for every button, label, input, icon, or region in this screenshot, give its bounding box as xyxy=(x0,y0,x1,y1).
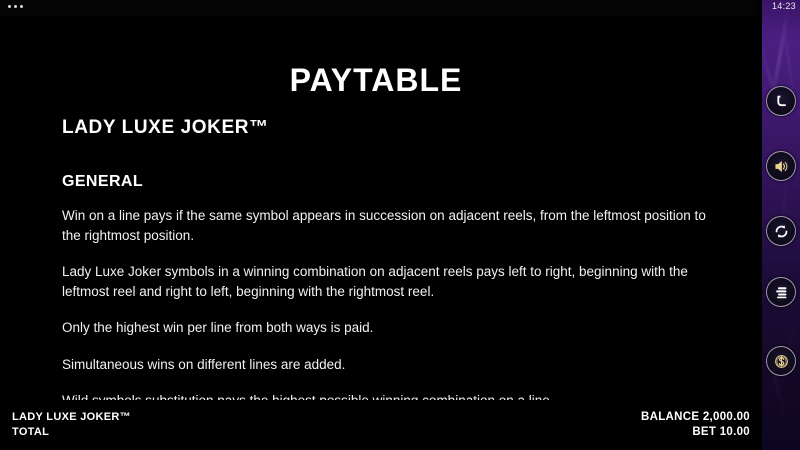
autoplay-icon xyxy=(773,223,790,240)
coins-icon xyxy=(773,353,790,370)
paylines-button[interactable] xyxy=(766,277,796,307)
sound-button[interactable] xyxy=(766,151,796,181)
game-screen: 14:23 PAYTABLE LADY LUXE JOKER™ GENERAL … xyxy=(0,0,800,450)
autoplay-button[interactable] xyxy=(766,216,796,246)
rules-paragraph: Lady Luxe Joker symbols in a winning com… xyxy=(62,262,727,301)
side-control-panel xyxy=(762,0,800,450)
status-bar xyxy=(0,0,762,16)
clock-label: 14:23 xyxy=(772,1,796,11)
rules-text-block: Win on a line pays if the same symbol ap… xyxy=(62,206,727,400)
bet-button[interactable] xyxy=(766,346,796,376)
rules-paragraph: Only the highest win per line from both … xyxy=(62,318,727,338)
bet-value: BET 10.00 xyxy=(641,425,750,440)
paytable-content: PAYTABLE LADY LUXE JOKER™ GENERAL Win on… xyxy=(0,0,752,400)
rules-paragraph: Simultaneous wins on different lines are… xyxy=(62,355,727,375)
section-heading-general: GENERAL xyxy=(62,173,143,191)
back-button[interactable] xyxy=(766,86,796,116)
footer-total-label: TOTAL xyxy=(12,425,131,440)
rules-paragraph: Wild symbols substitution pays the highe… xyxy=(62,391,727,400)
bottom-bar: LADY LUXE JOKER™ TOTAL BALANCE 2,000.00 … xyxy=(0,404,762,450)
bottom-bar-left: LADY LUXE JOKER™ TOTAL xyxy=(12,410,131,440)
paylines-icon xyxy=(773,284,790,301)
decorative-wisp xyxy=(762,331,787,425)
bottom-bar-right: BALANCE 2,000.00 BET 10.00 xyxy=(641,410,750,440)
rules-paragraph: Win on a line pays if the same symbol ap… xyxy=(62,206,727,245)
back-icon xyxy=(773,93,790,110)
sound-icon xyxy=(773,158,790,175)
balance-value: BALANCE 2,000.00 xyxy=(641,410,750,425)
page-title: PAYTABLE xyxy=(0,62,752,99)
footer-game-name: LADY LUXE JOKER™ xyxy=(12,410,131,425)
game-title-heading: LADY LUXE JOKER™ xyxy=(62,117,269,139)
three-dots-icon[interactable] xyxy=(8,5,23,8)
